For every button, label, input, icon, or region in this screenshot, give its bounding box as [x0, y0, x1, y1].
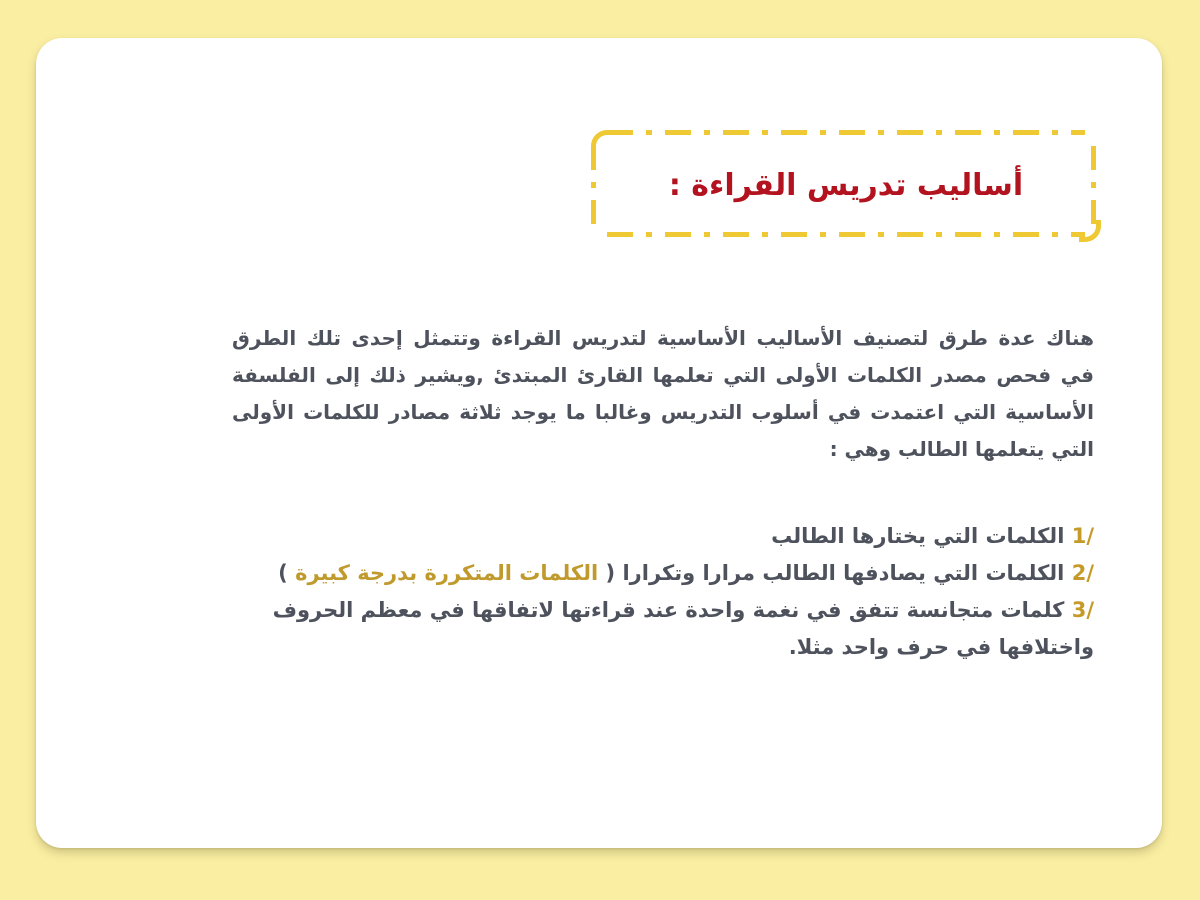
list-item: /3 كلمات متجانسة تتفق في نغمة واحدة عند … — [186, 592, 1094, 666]
body-paragraph: هناك عدة طرق لتصنيف الأساليب الأساسية لت… — [232, 320, 1094, 468]
list-item-marker: /1 — [1072, 524, 1094, 548]
title-box-corner-top-left — [591, 130, 613, 152]
list-item-label: الكلمات التي يختارها الطالب — [771, 524, 1064, 548]
list-item-marker: /2 — [1072, 561, 1094, 585]
title-box-corner-bottom-right — [1079, 220, 1101, 242]
list-item-label-suffix: ) — [278, 561, 288, 585]
list-item: /1 الكلمات التي يختارها الطالب — [186, 518, 1094, 555]
numbered-list: /1 الكلمات التي يختارها الطالب /2 الكلما… — [186, 518, 1094, 666]
slide-card: أساليب تدريس القراءة : هناك عدة طرق لتصن… — [36, 38, 1162, 848]
slide-title: أساليب تدريس القراءة : — [669, 166, 1023, 207]
slide-root: أساليب تدريس القراءة : هناك عدة طرق لتصن… — [0, 0, 1200, 900]
list-item-label: الكلمات التي يصادفها الطالب مرارا وتكرار… — [598, 561, 1064, 585]
list-item-marker: /3 — [1072, 598, 1094, 622]
title-box: أساليب تدريس القراءة : — [591, 130, 1101, 242]
list-item-accent-text: الكلمات المتكررة بدرجة كبيرة — [295, 561, 598, 585]
list-item: /2 الكلمات التي يصادفها الطالب مرارا وتك… — [186, 555, 1094, 592]
list-item-label: كلمات متجانسة تتفق في نغمة واحدة عند قرا… — [273, 598, 1094, 659]
body-text-block: هناك عدة طرق لتصنيف الأساليب الأساسية لت… — [232, 320, 1094, 468]
